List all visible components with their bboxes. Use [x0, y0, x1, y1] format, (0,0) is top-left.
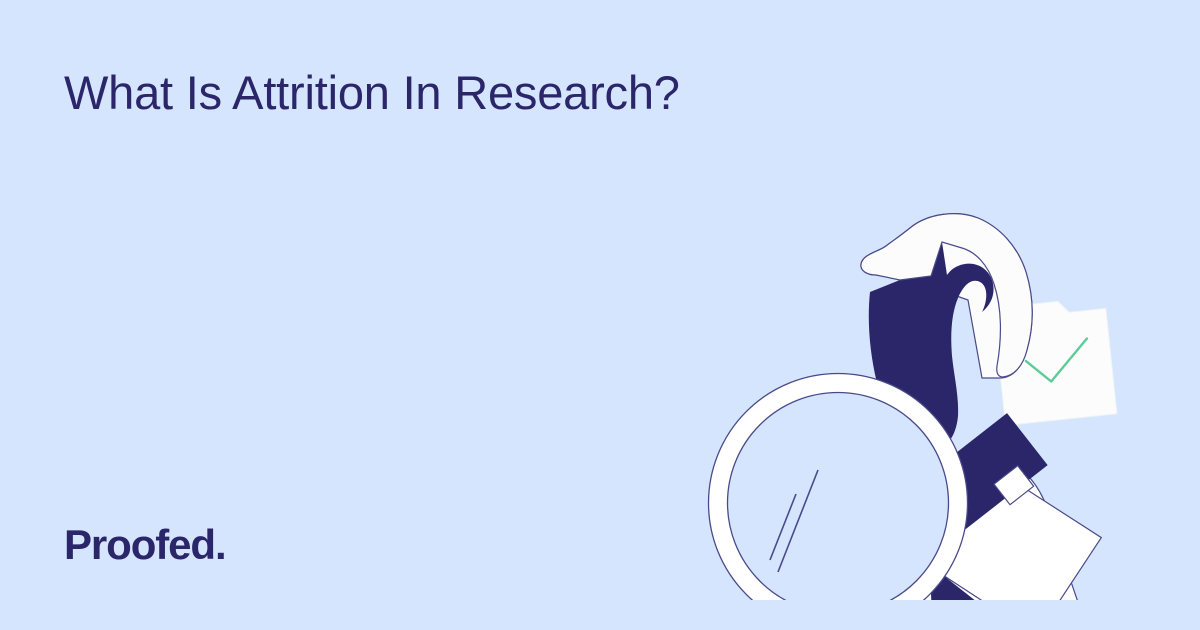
social-share-card: What Is Attrition In Research? — [0, 0, 1200, 630]
page-title: What Is Attrition In Research? — [64, 64, 784, 122]
hero-illustration — [700, 180, 1200, 600]
illustration-root — [709, 214, 1117, 600]
proofed-logo[interactable]: Proofed. — [64, 521, 226, 569]
researcher-illustration-svg — [700, 180, 1200, 600]
